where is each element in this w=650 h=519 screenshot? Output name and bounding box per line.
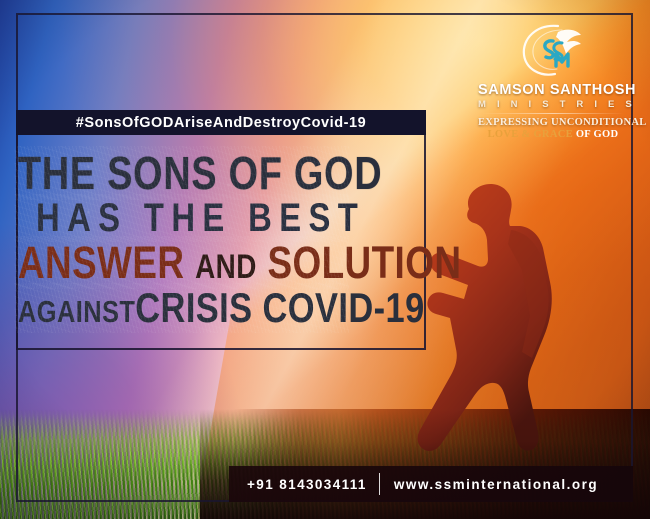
headline-word-answer: ANSWER [18, 237, 184, 288]
logo-tagline-2-ofgod: OF GOD [576, 129, 619, 140]
headline-line-4: AGAINSTCRISIS COVID-19 [18, 287, 346, 329]
logo-tagline-1: EXPRESSING UNCONDITIONAL [478, 117, 628, 128]
logo-ministry-name: SAMSON SANTHOSH [478, 82, 628, 98]
headline-word-crisis-covid: CRISIS COVID-19 [135, 284, 424, 331]
headline-word-against: AGAINST [18, 294, 135, 329]
headline-line-1: THE SONS OF GOD [18, 150, 346, 196]
logo-ministry-word: M I N I S T R I E S [478, 99, 628, 110]
poster-canvas: #SonsOfGODAriseAndDestroyCovid-19 THE SO… [0, 0, 650, 519]
ministry-logo: SAMSON SANTHOSH M I N I S T R I E S EXPR… [478, 22, 628, 140]
hashtag-text: #SonsOfGODAriseAndDestroyCovid-19 [76, 115, 367, 131]
website-url[interactable]: www.ssminternational.org [380, 477, 608, 492]
logo-tagline-2-love: LOVE & GRACE [488, 129, 573, 140]
headline-line-2: HAS THE BEST [18, 198, 346, 238]
logo-divider [482, 113, 624, 114]
headline-line-3: ANSWER AND SOLUTION [18, 240, 346, 285]
headline-word-and: AND [195, 248, 257, 286]
contact-footer: +91 8143034111 www.ssminternational.org [229, 466, 633, 502]
dove-ssm-monogram-icon [518, 22, 588, 78]
headline: THE SONS OF GOD HAS THE BEST ANSWER AND … [18, 132, 418, 347]
headline-word-solution: SOLUTION [267, 237, 461, 288]
phone-number[interactable]: +91 8143034111 [229, 477, 379, 492]
logo-tagline-2: LOVE & GRACE OF GOD [478, 129, 628, 140]
